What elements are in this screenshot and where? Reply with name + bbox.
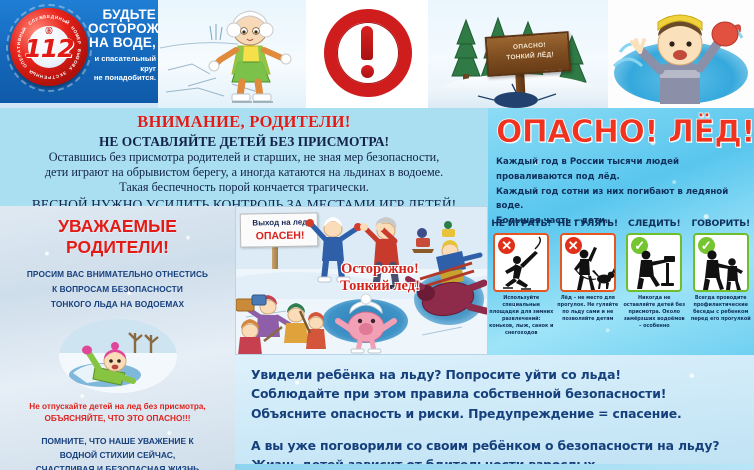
children-group-left xyxy=(236,295,308,355)
respected-sub-line2: К ВОПРОСАМ БЕЗОПАСНОСТИ xyxy=(8,282,227,297)
respected-blue-line3: СЧАСТЛИВАЯ И БЕЗОПАСНАЯ ЖИЗНЬ xyxy=(6,463,229,470)
ice-rules-row: НЕ ИГРАТЬ! ✕ xyxy=(488,216,754,355)
rule-do-not-play: НЕ ИГРАТЬ! ✕ xyxy=(488,216,555,355)
thin-ice-scene-illustration: Выход на лед ОПАСЕН! xyxy=(235,206,488,355)
skating-girl-illustration xyxy=(158,0,306,108)
exclamation-bar-icon xyxy=(361,26,373,60)
emergency-slogan-line3: НА ВОДЕ, xyxy=(88,36,156,50)
rule-talk: ГОВОРИТЬ! ✓ xyxy=(688,216,754,355)
attention-body-line2: дети играют на обрывистом берегу, а иног… xyxy=(6,165,482,180)
respected-blue-line1: ПОМНИТЕ, ЧТО НАШЕ УВАЖЕНИЕ К xyxy=(6,435,229,449)
ice-hole-crack-icon xyxy=(428,0,608,108)
bottom-line2: Соблюдайте при этом правила собственной … xyxy=(251,384,754,403)
bottom-line3: Объясните опасность и риски. Предупрежде… xyxy=(251,404,754,423)
rule-title: СЛЕДИТЬ! xyxy=(621,218,688,229)
rule-watch: СЛЕДИТЬ! ✓ xyxy=(621,216,688,355)
emergency-sub-line1: и спасательный круг xyxy=(88,54,156,73)
danger-fact-1: Каждый год в России тысячи людей провали… xyxy=(496,155,746,185)
emergency-sub-line2: не понадобится. xyxy=(88,73,156,82)
bottom-divider xyxy=(235,464,754,470)
emergency-slogan-line1: БУДЬТЕ xyxy=(88,8,156,22)
center-warn-line2: Тонкий лед! xyxy=(320,278,440,295)
emergency-112-block: ЕДИНЫЙ НОМЕР ВЫЗОВА ЭКСТРЕННЫХ ОПЕРАТИВН… xyxy=(0,0,158,103)
attention-heading: ВНИМАНИЕ, РОДИТЕЛИ! xyxy=(6,112,482,132)
emergency-slogan: БУДЬТЕ ОСТОРОЖНЫ НА ВОДЕ, и спасательный… xyxy=(88,8,156,83)
dog-walker-figure-icon xyxy=(562,235,618,294)
respected-parents-panel: УВАЖАЕМЫЕ РОДИТЕЛИ! ПРОСИМ ВАС ВНИМАТЕЛЬ… xyxy=(0,206,235,470)
watching-adult-figure-icon xyxy=(628,235,684,294)
rule-do-not-walk: НЕ ГУЛЯТЬ! ✕ xyxy=(555,216,622,355)
skating-girl-icon xyxy=(158,0,306,108)
attention-body-line1: Оставшись без присмотра родителей и стар… xyxy=(6,150,482,165)
drowning-boy-illustration xyxy=(608,0,754,108)
exclamation-dot-icon xyxy=(361,65,374,78)
respected-red-line2: ОБЪЯСНЯЙТЕ, ЧТО ЭТО ОПАСНО!!! xyxy=(6,413,229,426)
rule-title: ГОВОРИТЬ! xyxy=(688,218,754,229)
bottom-line1: Увидели ребёнка на льду? Попросите уйти … xyxy=(251,365,754,384)
child-falling-through-ice-vignette xyxy=(59,319,177,393)
attention-subheading: НЕ ОСТАВЛЯЙТЕ ДЕТЕЙ БЕЗ ПРИСМОТРА! xyxy=(6,133,482,150)
lifebuoy-graphic: ЕДИНЫЙ НОМЕР ВЫЗОВА ЭКСТРЕННЫХ ОПЕРАТИВН… xyxy=(4,4,92,98)
rule-card: ✕ xyxy=(560,233,616,292)
danger-ice-panel: ОПАСНО! ЛЁД! Каждый год в России тысячи … xyxy=(488,108,754,355)
center-warning-text: Осторожно! Тонкий лед! xyxy=(320,261,440,294)
respected-sub-line1: ПРОСИМ ВАС ВНИМАТЕЛЬНО ОТНЕСТИСЬ xyxy=(8,267,227,282)
bottom-message-block: Увидели ребёнка на льду? Попросите уйти … xyxy=(235,355,754,470)
bottom-line4: А вы уже поговорили со своим ребёнком о … xyxy=(251,436,754,455)
respected-blue-line2: ВОДНОЙ СТИХИИ СЕЙЧАС, xyxy=(6,449,229,463)
emergency-slogan-line2: ОСТОРОЖНЫ xyxy=(88,22,156,36)
top-banner: ЕДИНЫЙ НОМЕР ВЫЗОВА ЭКСТРЕННЫХ ОПЕРАТИВН… xyxy=(0,0,754,108)
rule-card: ✓ xyxy=(626,233,682,292)
rule-card: ✓ xyxy=(693,233,749,292)
rule-title: НЕ ИГРАТЬ! xyxy=(488,218,555,229)
attention-parents-block: ВНИМАНИЕ, РОДИТЕЛИ! НЕ ОСТАВЛЯЙТЕ ДЕТЕЙ … xyxy=(0,108,488,206)
respected-heading-line2: РОДИТЕЛИ! xyxy=(0,237,235,258)
bottom-spacer xyxy=(251,423,754,436)
exclamation-warning-illustration xyxy=(306,0,428,108)
drowning-boy-icon xyxy=(608,0,754,108)
forest-warning-sign-illustration: ОПАСНО! ТОНКИЙ ЛЁД! xyxy=(428,0,608,108)
respected-sub-line3: ТОНКОГО ЛЬДА НА ВОДОЕМАХ xyxy=(8,297,227,312)
danger-heading: ОПАСНО! ЛЁД! xyxy=(496,114,754,150)
adult-talking-to-child-icon xyxy=(695,235,751,294)
pig-skater-figure xyxy=(338,294,394,353)
ice-safety-poster: ЕДИНЫЙ НОМЕР ВЫЗОВА ЭКСТРЕННЫХ ОПЕРАТИВН… xyxy=(0,0,754,470)
rule-title: НЕ ГУЛЯТЬ! xyxy=(555,218,622,229)
child-on-ice-icon xyxy=(59,319,177,393)
attention-body-line3: Такая беспечность порой кончается трагич… xyxy=(6,180,482,195)
rule-card: ✕ xyxy=(493,233,549,292)
emergency-number: 112 xyxy=(10,34,88,63)
danger-fact-2: Каждый год сотни из них погибают в ледян… xyxy=(496,185,746,215)
rule-caption: Используйте специальные площадки для зим… xyxy=(489,295,554,337)
respected-red-line1: Не отпускайте детей на лед без присмотра… xyxy=(6,401,229,414)
rule-caption: Лёд – не место для прогулок. Не гуляйте … xyxy=(556,295,621,323)
rule-caption: Никогда не оставляйте детей без присмотр… xyxy=(622,295,687,330)
skater-figure-icon xyxy=(495,235,551,294)
center-warn-line1: Осторожно! xyxy=(320,261,440,278)
respected-heading-line1: УВАЖАЕМЫЕ xyxy=(0,216,235,237)
rule-caption: Всегда проводите профилактические беседы… xyxy=(689,295,754,323)
